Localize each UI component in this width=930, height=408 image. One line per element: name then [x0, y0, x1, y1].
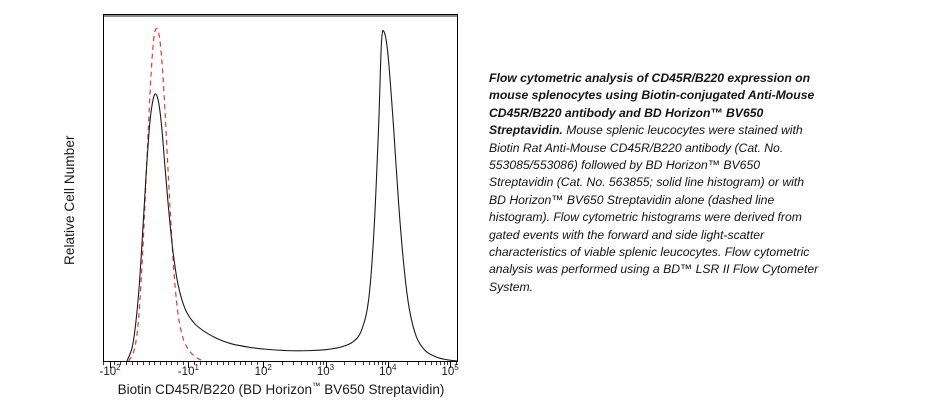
x-axis-minor-tick: [425, 362, 426, 365]
x-axis-minor-tick: [223, 362, 224, 365]
x-axis-minor-tick: [378, 362, 379, 365]
x-axis-minor-tick: [206, 362, 207, 365]
x-axis-minor-tick: [160, 362, 161, 365]
x-axis-minor-tick: [137, 362, 138, 365]
x-axis-minor-tick: [240, 362, 241, 365]
solid-histogram-curve: [127, 30, 457, 361]
x-axis-minor-tick: [293, 362, 294, 365]
x-axis-minor-tick: [217, 362, 218, 365]
x-axis-minor-tick: [166, 362, 167, 365]
x-axis-tick-label: 105: [441, 366, 458, 378]
x-axis-minor-tick: [440, 362, 441, 365]
x-axis-minor-tick: [177, 362, 178, 365]
x-axis-minor-tick: [385, 362, 386, 365]
x-axis-minor-tick: [323, 362, 324, 365]
x-axis-minor-tick: [171, 362, 172, 365]
x-axis-tick-labels: -102-101102103104105: [103, 366, 459, 382]
x-axis-minor-tick: [369, 362, 370, 365]
x-axis-tick-label: -101: [178, 366, 199, 378]
x-axis-tick-label: 102: [255, 366, 272, 378]
x-axis-tick-label: -102: [100, 366, 121, 378]
y-axis-title: Relative Cell Number: [58, 100, 82, 300]
x-axis-title: Biotin CD45R/B220 (BD Horizon™ BV650 Str…: [103, 382, 459, 397]
x-axis-minor-tick: [382, 362, 383, 365]
x-axis-minor-tick: [374, 362, 375, 365]
x-axis-tick-label: 104: [379, 366, 396, 378]
dashed-histogram-curve: [129, 29, 203, 361]
x-axis-minor-tick: [355, 362, 356, 365]
x-axis-minor-tick: [316, 362, 317, 365]
x-axis-title-tail: BV650 Streptavidin): [321, 382, 445, 397]
x-axis-minor-tick: [418, 362, 419, 365]
trademark-icon: ™: [312, 381, 321, 391]
caption-body: Mouse splenic leucocytes were stained wi…: [489, 123, 818, 294]
x-axis-minor-tick: [344, 362, 345, 365]
figure-caption: Flow cytometric analysis of CD45R/B220 e…: [489, 70, 819, 296]
x-axis-minor-tick: [103, 362, 104, 365]
x-axis-minor-tick: [132, 362, 133, 365]
x-axis-tick-label: 103: [317, 366, 334, 378]
x-axis-minor-tick: [301, 362, 302, 365]
x-axis-minor-tick: [200, 362, 201, 365]
x-axis-minor-tick: [431, 362, 432, 365]
flow-cytometry-figure: Relative Cell Number -102-10110210310410…: [0, 0, 485, 408]
x-axis-minor-tick: [183, 362, 184, 365]
histogram-canvas: [104, 15, 457, 361]
x-axis-minor-tick: [143, 362, 144, 365]
x-axis-minor-tick: [407, 362, 408, 365]
x-axis-minor-tick: [251, 362, 252, 365]
x-axis-minor-tick: [447, 362, 448, 365]
x-axis-title-main: Biotin CD45R/B220 (BD Horizon: [118, 382, 312, 397]
x-axis-minor-tick: [126, 362, 127, 365]
x-axis-minor-tick: [245, 362, 246, 365]
x-axis-minor-tick: [363, 362, 364, 365]
plot-area: [103, 14, 458, 362]
x-axis-minor-tick: [234, 362, 235, 365]
x-axis-minor-tick: [211, 362, 212, 365]
x-axis-minor-tick: [312, 362, 313, 365]
x-axis-minor-tick: [444, 362, 445, 365]
x-axis-minor-tick: [154, 362, 155, 365]
x-axis-minor-tick: [436, 362, 437, 365]
x-axis-minor-tick: [320, 362, 321, 365]
x-axis-minor-tick: [149, 362, 150, 365]
x-axis-minor-tick: [257, 362, 258, 365]
x-axis-minor-tick: [307, 362, 308, 365]
x-axis-minor-tick: [282, 362, 283, 365]
x-axis-minor-tick: [228, 362, 229, 365]
